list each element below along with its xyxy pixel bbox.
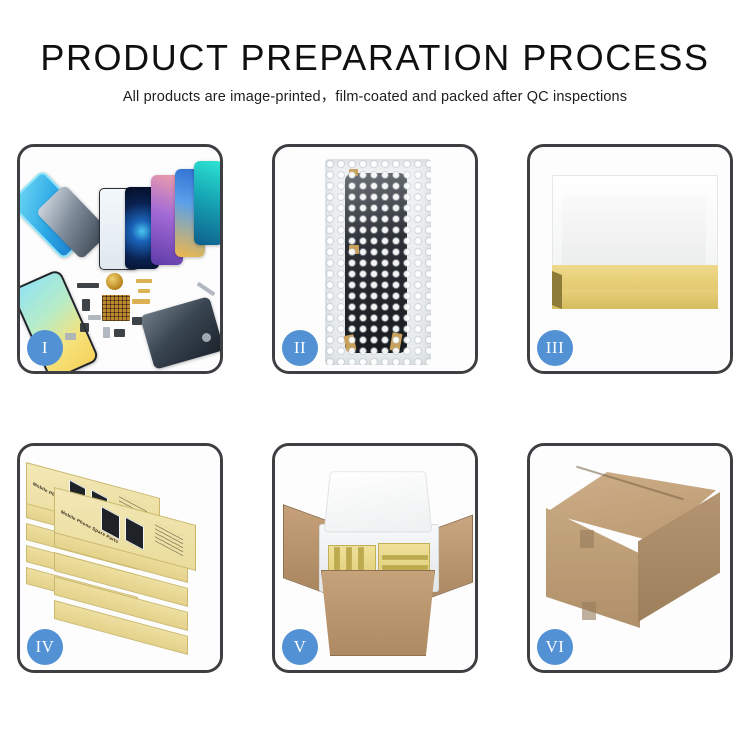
- flex-tab-icon-top: [349, 169, 358, 176]
- flex-cable-icon-1: [136, 279, 152, 283]
- flex-cable-icon-3: [132, 299, 150, 304]
- gold-pack-divider-4: [382, 555, 428, 560]
- process-step-panel-1: I: [17, 144, 223, 374]
- box-front-face-icon: [552, 289, 718, 309]
- flex-tab-icon-br: [390, 332, 403, 351]
- step-badge-2: II: [282, 330, 318, 366]
- page-subtitle: All products are image-printed，film-coat…: [0, 87, 750, 107]
- metal-bracket-icon: [88, 315, 101, 320]
- earpiece-icon: [114, 329, 125, 337]
- gold-pack-divider-5: [382, 565, 428, 570]
- screw-icon: [202, 333, 211, 342]
- flex-tab-icon-bl: [343, 334, 356, 352]
- foam-cooler-lid-icon: [324, 471, 433, 532]
- phone-teal-wallpaper-icon: [194, 161, 223, 245]
- process-step-panel-4: Mobile Phone Spare Parts Mobile Phone Sp…: [17, 443, 223, 673]
- battery-connector-icon: [77, 283, 99, 288]
- step-badge-5: V: [282, 629, 318, 665]
- flex-tab-icon-mid: [349, 245, 359, 254]
- process-step-panel-5: V: [272, 443, 478, 673]
- wrapped-screen-icon: [345, 173, 407, 353]
- process-step-panel-6: VI: [527, 443, 733, 673]
- logic-board-icon: [102, 295, 130, 321]
- carton-tape-icon-top: [580, 530, 594, 548]
- process-step-grid: I II III: [17, 144, 733, 674]
- small-bracket-icon: [65, 333, 76, 340]
- page-header: PRODUCT PREPARATION PROCESS All products…: [0, 36, 750, 107]
- box-text-block-front: [155, 521, 183, 556]
- phone-back-housing-icon: [140, 296, 223, 370]
- process-step-panel-2: II: [272, 144, 478, 374]
- flex-cable-icon-2: [138, 289, 150, 293]
- speaker-module-icon: [106, 273, 123, 290]
- carton-tape-icon-bottom: [582, 602, 596, 620]
- sim-tray-icon: [132, 317, 142, 325]
- page-title: PRODUCT PREPARATION PROCESS: [0, 36, 750, 80]
- step-badge-1: I: [27, 330, 63, 366]
- process-step-panel-3: III: [527, 144, 733, 374]
- step-badge-4: IV: [27, 629, 63, 665]
- box-interior-icon: [562, 195, 706, 265]
- box-screen-art-front-2: [125, 516, 144, 550]
- carton-body-icon: [321, 570, 435, 656]
- box-left-edge-icon: [552, 271, 562, 309]
- screw-set-icon: [103, 327, 110, 338]
- tweezers-icon: [197, 282, 216, 297]
- bubble-wrap-bag-icon: [325, 159, 431, 365]
- step-badge-6: VI: [537, 629, 573, 665]
- vibrator-icon: [80, 323, 89, 332]
- camera-module-icon: [82, 299, 90, 311]
- step-badge-3: III: [537, 330, 573, 366]
